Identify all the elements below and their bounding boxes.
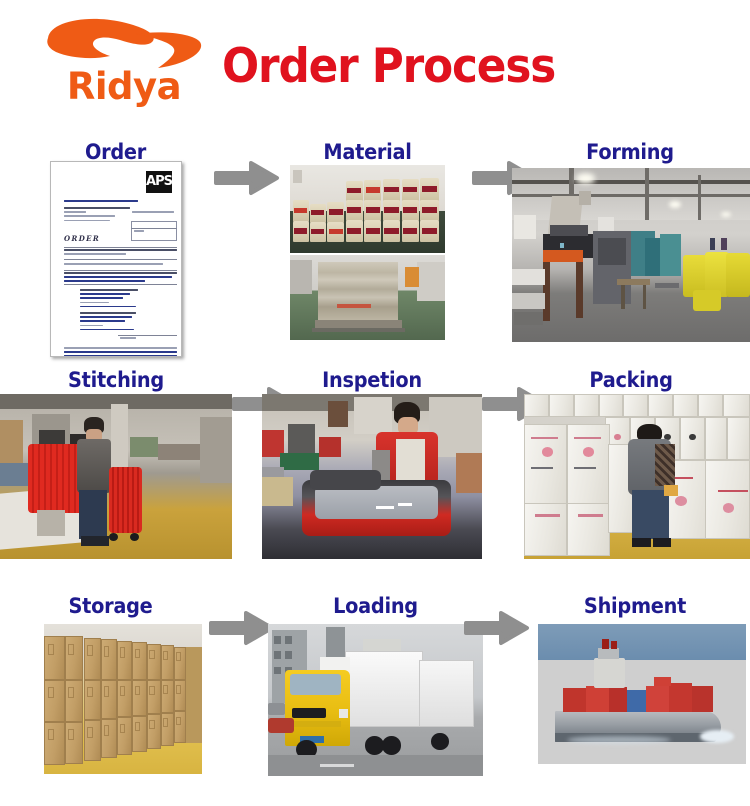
aps-logo-icon: APS: [146, 171, 172, 193]
process-row-3: Storage: [0, 594, 750, 806]
step-label-shipment: Shipment: [529, 594, 741, 618]
step-label-storage: Storage: [16, 594, 205, 618]
step-label-inspection: Inspetion: [271, 368, 473, 392]
brand-logo: Ridya: [34, 16, 214, 116]
step-label-stitching: Stitching: [9, 368, 222, 392]
arrow-right-icon-6: [464, 608, 530, 648]
page-title: Order Process: [222, 41, 501, 97]
inspection-worker-image: [262, 394, 482, 559]
step-label-material: Material: [292, 140, 444, 164]
material-sheets-pallet-image: [290, 255, 445, 340]
process-row-1: Order APS ORDER: [0, 140, 750, 365]
loading-truck-image: [268, 624, 483, 776]
brand-name: Ridya: [34, 68, 214, 105]
arrow-right-icon-1: [214, 158, 280, 198]
step-label-loading: Loading: [277, 594, 475, 618]
process-row-2: Stitching: [0, 368, 750, 586]
arrow-right-icon-5: [209, 608, 275, 648]
order-process-infographic: Ridya Order Process Order APS: [0, 0, 750, 806]
step-label-packing: Packing: [522, 368, 741, 392]
storage-cartons-image: [44, 624, 202, 774]
order-document-image: APS ORDER: [50, 161, 182, 357]
document-heading: ORDER: [64, 234, 100, 243]
material-bags-image: [290, 165, 445, 253]
forming-factory-image: [512, 168, 750, 342]
header: Ridya Order Process: [0, 0, 750, 124]
packing-worker-image: [524, 394, 750, 559]
shipment-vessel-image: [538, 624, 746, 764]
stitching-worker-image: [0, 394, 232, 559]
step-label-forming: Forming: [520, 140, 741, 164]
